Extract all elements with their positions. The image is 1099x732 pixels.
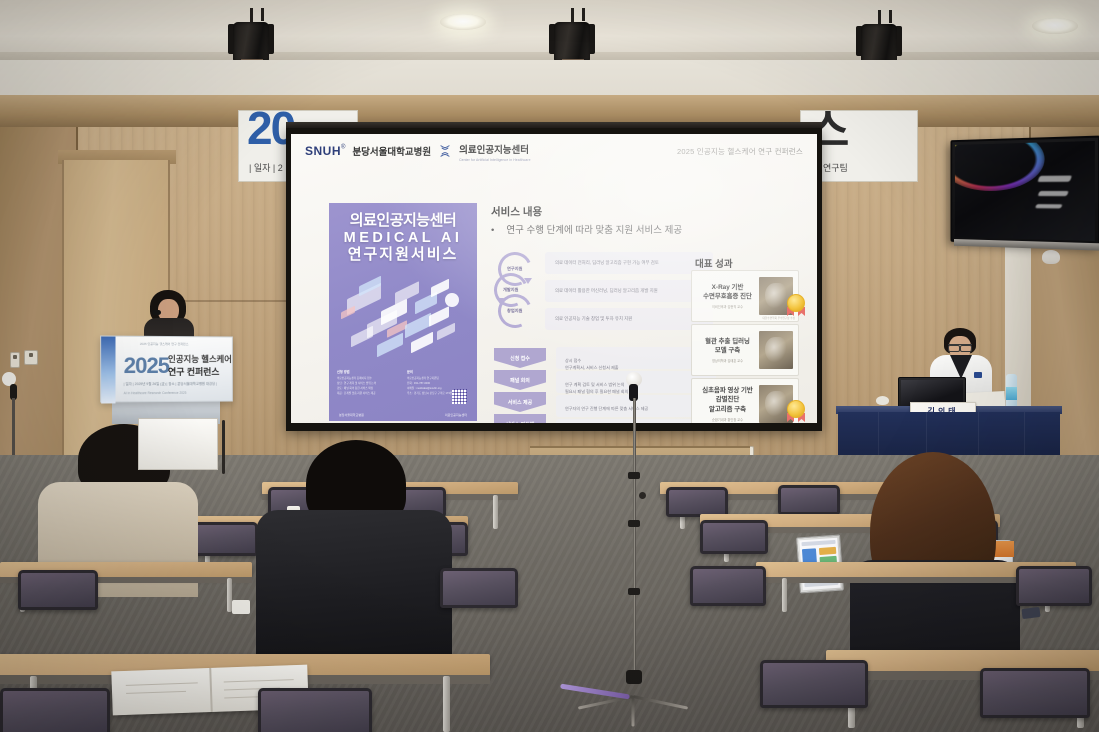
center-logo-text: 의료인공지능센터 Center for Artificial Intellige… [459,140,531,162]
service-section-title: 서비스 내용 [491,204,542,219]
mic-stand-clamp[interactable] [628,588,640,595]
spotlight-body [233,22,269,62]
mic-tripod-leg [632,697,635,727]
spotlight-rod [261,8,264,21]
mic-stand-clamp[interactable] [628,472,640,479]
glasses-icon [948,344,972,349]
poster-line-3: 연구지원서비스 [337,247,469,264]
achievement-thumbnail-vessel [759,331,793,369]
spotlight-body [861,24,897,64]
medal-disc [787,294,805,312]
flow-box-text: 의료 인공지능 기술 창업 및 투자 유치 지원 [555,316,632,322]
achievement-card-1: X-Ray 기반 수면무호흡증 진단 이비인후과 김현직 교수 대한수면학회 우… [691,270,799,322]
chair[interactable] [18,570,98,610]
achievements-title: 대표 성과 [695,256,733,270]
podium-line-1: 인공지능 헬스케어 [168,353,232,365]
mic-stand-shaft [633,398,636,678]
step-label: 서비스 제공 [508,399,532,406]
stage-spotlight-2 [548,8,596,64]
bottle-label [1006,387,1017,400]
chair[interactable] [258,688,372,732]
step-chevron-service: 서비스 제공 [494,392,546,412]
step-label: 패널 회의 [510,377,530,384]
presentation-slide: SNUH® 분당서울대학교병원 의료인공지능센터 Center for Arti… [291,134,817,423]
chair[interactable] [760,660,868,708]
presenter-handheld-mic [152,310,161,315]
spotlight-body [554,22,590,62]
hospital-name: 분당서울대학교병원 [352,144,431,158]
slide-logos: SNUH® 분당서울대학교병원 의료인공지능센터 Center for Arti… [305,140,531,162]
ceiling-camera-icon [1042,250,1060,264]
poster-logo-left: 분당서울대학교병원 [339,413,364,417]
achievement-card-2: 혈관 추출 딥러닝 모델 구축 영상의학과 김태훈 교수 [691,324,799,376]
achievement-author: 이비인후과 김현직 교수 [696,304,759,309]
snuh-registered-icon: ® [341,145,345,151]
computer-mouse[interactable] [876,396,889,405]
step-chevron-apply: 신청 접수 [494,348,546,368]
slide-poster-image: 의료인공지능센터 MEDICAL AI 연구지원서비스 [329,203,477,421]
achievement-title: X-Ray 기반 수면무호흡증 진단 [696,283,759,302]
whiteboard-panel [138,418,218,470]
wall-outlet-left-2[interactable] [24,350,38,365]
podium-subtext-2: AI in Healthcare Research Conference 202… [124,391,187,395]
chair[interactable] [0,688,110,732]
dna-helix-icon [438,144,452,158]
tv-rainbow-reflection [955,141,1045,191]
podium-blue-accent [101,337,115,404]
step-label: 신청 접수 [510,355,530,362]
mic-stand-knob[interactable] [639,492,646,499]
qr-code-icon [452,389,467,404]
center-name-en: Center for Artificial Intelligence in He… [459,158,531,162]
spotlight-rod [582,8,585,21]
achievement-title: 혈관 추출 딥러닝 모델 구축 [696,337,759,356]
flow-box-text: 의료 데이터 활용한 머신러닝, 딥러닝 알고리즘 개발 지원 [555,288,658,294]
poster-col1-heading: 신청 방법 [337,369,399,375]
achievement-caption: 대한수면학회 우수연구상 수상 [763,316,795,320]
presenter-speaker [142,290,196,342]
tv-light-reflection [1038,191,1069,196]
flow-text-box-development: 의료 데이터 활용한 머신러닝, 딥러닝 알고리즘 개발 지원 [545,280,713,302]
chair[interactable] [1016,566,1092,606]
tv-light-reflection [1038,175,1072,181]
achievement-text: X-Ray 기반 수면무호흡증 진단 이비인후과 김현직 교수 [692,283,759,310]
mic-tripod-leg [633,695,688,710]
floor-microphone-left [0,372,26,462]
poster-bottom-logos: 분당서울대학교병원 의료인공지능센터 [339,413,467,417]
center-microphone-stand[interactable] [600,372,680,710]
chair[interactable] [778,485,840,515]
support-flow-circles: 연구지원 개발지원 창업지원 [494,252,544,328]
flow-arrow-icon [496,298,504,304]
banner-left-sub: | 일자 | 2 [249,161,283,174]
audience-body [256,510,452,658]
mic-tripod-hub [626,670,642,684]
achievement-author: 영상의학과 김태훈 교수 [696,358,759,363]
chair[interactable] [700,520,768,554]
step-chevron-panel: 패널 회의 [494,370,546,390]
panelist-badge [974,372,982,378]
poster-line-2: MEDICAL AI [337,230,469,247]
flow-text-box-research: 의료 데이터 전처리, 딥러닝 알고리즘 구현 가능 여부 검토 [545,252,713,274]
achievement-card-3: 심초음파 영상 기반 감별진단 알고리즘 구축 순환기내과 황인창 교수 대한심… [691,378,799,423]
podium: 2025 인공지능 헬스케어 연구 컨퍼런스 2025 인공지능 헬스케어 연구… [100,335,233,402]
service-bullet: •연구 수행 단계에 따라 맞춤 지원 서비스 제공 [491,222,682,236]
tv-screen [955,141,1095,241]
step-label: 서비스 피드백 [506,421,535,424]
chair[interactable] [690,566,766,606]
chair[interactable] [666,487,728,517]
audience-person-long-hair [846,452,1024,652]
podium-year: 2025 [124,353,169,379]
podium-line-2: 연구 컨퍼런스 [168,365,219,378]
chair[interactable] [980,668,1090,718]
notebook-spine [209,668,213,712]
audience-person-black-shirt [256,440,452,650]
flow-text-box-startup: 의료 인공지능 기술 창업 및 투자 유치 지원 [545,308,713,330]
achievement-title: 심초음파 영상 기반 감별진단 알고리즘 구축 [696,386,759,414]
desk-legs [782,578,1051,612]
downlight-2 [1032,18,1078,34]
hanging-cable [222,420,225,474]
tablet-device[interactable] [232,600,250,614]
conference-hall-photo: 20 | 일자 | 2 스 연구팀 SNUH® 분당서울대학교병원 [0,0,1099,732]
wall-television [950,136,1099,247]
mic-stand-clamp[interactable] [628,520,640,527]
stage-spotlight-3 [855,10,903,66]
poster-line-1: 의료인공지능센터 [337,213,469,230]
medal-disc [787,400,805,418]
achievement-text: 혈관 추출 딥러닝 모델 구축 영상의학과 김태훈 교수 [692,337,759,364]
chair[interactable] [440,568,518,608]
poster-logo-right: 의료인공지능센터 [445,413,467,417]
flow-box-text: 의료 데이터 전처리, 딥러닝 알고리즘 구현 가능 여부 검토 [555,260,659,266]
projection-screen: SNUH® 분당서울대학교병원 의료인공지능센터 Center for Arti… [286,128,822,431]
poster-col1-body: 의료인공지능센터 홈페이지 접수 상담 : 연구 계획 및 서비스 범위 논의 … [337,377,399,397]
podium-top-microtext: 2025 인공지능 헬스케어 연구 컨퍼런스 [140,342,189,346]
conference-tag: 2025 인공지능 헬스케어 연구 컨퍼런스 [677,146,803,157]
downlight-1 [440,14,486,30]
flow-circle-label: 창업지원 [507,308,522,314]
service-bullet-text: 연구 수행 단계에 따라 맞춤 지원 서비스 제공 [506,225,682,236]
banner-right-sub: 연구팀 [823,161,848,174]
snuh-mark: SNUH [305,144,341,158]
snuh-logo: SNUH® [305,142,345,160]
stage-spotlight-1 [227,8,275,64]
center-name-ko: 의료인공지능센터 [459,145,529,156]
poster-footer-text: 신청 방법 의료인공지능센터 홈페이지 접수 상담 : 연구 계획 및 서비스 … [337,369,469,413]
tv-light-reflection [1035,205,1063,210]
slide-header: SNUH® 분당서울대학교병원 의료인공지능센터 Center for Arti… [305,142,803,160]
podium-subtext-1: | 일자 | 2025년 9월 26일 (금) | 장소 | 분당서울대학교병원… [124,381,217,386]
wall-outlet-left[interactable] [10,352,20,368]
poster-isometric-illustration [333,265,473,363]
award-medal-icon-2 [785,400,807,422]
poster-col2-heading: 문의 [407,369,469,375]
flow-circle-label: 개발지원 [503,287,518,293]
bullet-icon: • [491,225,494,236]
chair[interactable] [188,522,258,556]
achievement-text: 심초음파 영상 기반 감별진단 알고리즘 구축 순환기내과 황인창 교수 [692,386,759,422]
spotlight-rod [889,10,892,23]
step-detail-text: 상시 접수 연구계획서, 서비스 신청서 제출 [565,358,619,370]
flow-circle-label: 연구지원 [507,266,522,272]
achievement-author: 순환기내과 황인창 교수 [696,417,759,422]
award-medal-icon-1 [785,294,807,316]
flow-arrow-icon [524,278,532,284]
step-chevron-feedback: 서비스 피드백 [494,414,546,423]
